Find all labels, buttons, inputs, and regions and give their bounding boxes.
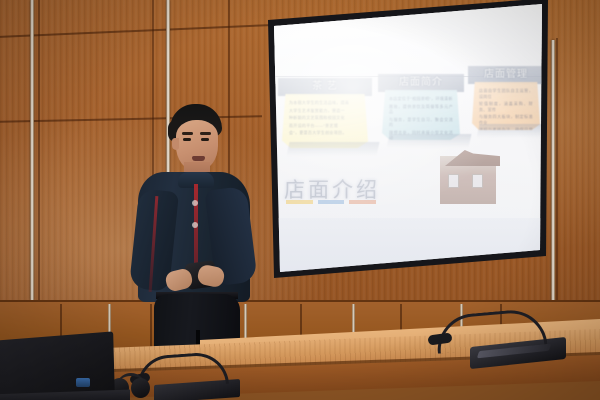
brick-house-photo [440, 156, 496, 204]
wall-seam-vertical [38, 0, 40, 300]
eye [183, 138, 191, 141]
panel-3-body: 店面由学生团队自主运营，设岗位 轮值制度，涵盖采购、财务、宣传 与服务四大板块，… [472, 82, 540, 130]
eyebrow [200, 132, 211, 135]
projected-slide: 茶 艺 为本宿大学生的生活品味，提高 大学生艺术鉴赏能力，营造一 种新颖的文艺氛… [274, 4, 542, 272]
shirt-button [192, 200, 198, 206]
screen-surface: 茶 艺 为本宿大学生的生活品味，提高 大学生艺术鉴赏能力，营造一 种新颖的文艺氛… [258, 0, 550, 286]
panel-3-line: 轮值制度，涵盖采购、财务、宣传 [479, 101, 533, 112]
panel-2-line: 与服务，是学生自习、聚会交流的 [389, 117, 453, 128]
accent-bar [318, 200, 345, 204]
lecture-room-photo: 茶 艺 为本宿大学生的生活品味，提高 大学生艺术鉴赏能力，营造一 种新颖的文艺氛… [0, 0, 600, 400]
panel-3-shadow [477, 124, 550, 138]
wall-seam-vertical [556, 38, 558, 300]
panel-1-body: 为本宿大学生的生活品味，提高 大学生艺术鉴赏能力，营造一 种新颖的文艺氛围和校园… [282, 94, 368, 148]
panel-1-header: 茶 艺 [278, 78, 372, 96]
accent-bar [286, 200, 313, 204]
headphone-earcup [131, 378, 150, 398]
panel-1-line: 而开设的平台——"茶艺馆 [289, 123, 361, 129]
slide-panel-2: 店面简介 本店定位于"校园茶吧"，环境清新 雅致，提供茶饮及简餐等多元产品 与服… [378, 74, 464, 140]
panel-2-body: 本店定位于"校园茶吧"，环境清新 雅致，提供茶饮及简餐等多元产品 与服务，是学生… [382, 90, 460, 140]
ear [172, 138, 179, 150]
metal-trim-strip [551, 40, 555, 302]
mouth [192, 156, 205, 161]
metal-trim-strip [30, 0, 34, 300]
conference-microphone-right [418, 312, 568, 370]
slide-bottom-band [274, 218, 542, 278]
panel-3-line: 规范有序、持续改进。 [479, 140, 533, 146]
eyebrow [182, 132, 193, 135]
shirt-button [192, 222, 198, 228]
slide-panel-3: 店面管理 店面由学生团队自主运营，设岗位 轮值制度，涵盖采购、财务、宣传 与服务… [468, 66, 544, 130]
house-window [472, 174, 483, 188]
panel-1-line: 种新颖的文艺氛围和校园文化 [289, 115, 361, 121]
laptop-indicator [76, 378, 90, 387]
panel-1-line: 会"，更是百大学生创业项目。 [289, 130, 361, 136]
slide-panel-1: 茶 艺 为本宿大学生的生活品味，提高 大学生艺术鉴赏能力，营造一 种新颖的文艺氛… [278, 78, 372, 148]
panel-1-line: 为本宿大学生的生活品味，提高 [289, 100, 361, 106]
accent-bar [349, 200, 376, 204]
panel-1-line: 大学生艺术鉴赏能力，营造一 [289, 108, 361, 114]
panel-3-line: 店面由学生团队自主运营，设岗位 [479, 88, 533, 99]
panel-2-line: 本店定位于"校园茶吧"，环境清新 [389, 96, 453, 102]
panel-2-shadow [387, 134, 472, 148]
panel-2-header: 店面简介 [378, 74, 464, 92]
panel-1-shadow [287, 142, 380, 156]
panel-3-header: 店面管理 [468, 66, 544, 84]
slide-accent-bars [286, 200, 376, 204]
eye [201, 138, 209, 141]
panel-2-line: 雅致，提供茶饮及简餐等多元产品 [389, 104, 453, 115]
house-window [448, 174, 459, 188]
house-roof [436, 150, 500, 166]
projection-screen: 茶 艺 为本宿大学生的生活品味，提高 大学生艺术鉴赏能力，营造一 种新颖的文艺氛… [258, 0, 550, 286]
